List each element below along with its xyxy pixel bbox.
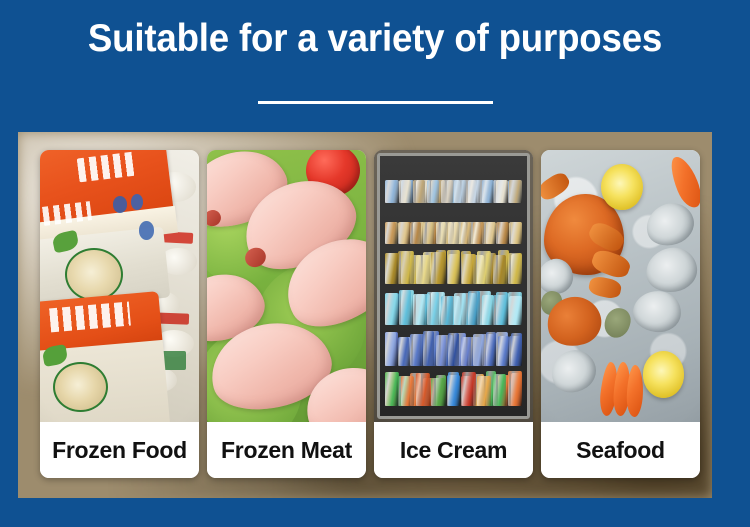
card-label-ice-cream: Ice Cream <box>374 422 533 478</box>
card-label-frozen-meat: Frozen Meat <box>207 422 366 478</box>
title-divider <box>258 101 493 104</box>
use-case-card-ice-cream[interactable]: Ice Cream <box>374 150 533 478</box>
lemon-wedge <box>601 164 642 210</box>
heading-block: Suitable for a variety of purposes <box>0 14 750 64</box>
card-label-text: Seafood <box>576 437 665 463</box>
card-photo-seafood <box>541 150 700 422</box>
card-label-text: Frozen Food <box>52 437 187 463</box>
card-photo-frozen-meat <box>207 150 366 422</box>
lemon-wedge <box>643 351 684 397</box>
card-label-text: Frozen Meat <box>221 437 352 463</box>
seafood-image <box>541 150 700 422</box>
package-dish-graphic <box>53 362 108 412</box>
use-case-card-frozen-food[interactable]: Frozen Food <box>40 150 199 478</box>
ice-cream-cooler-image <box>374 150 533 422</box>
package-dish-graphic <box>65 248 123 301</box>
frozen-food-image <box>40 150 199 422</box>
display-cooler-cabinet <box>377 153 530 420</box>
card-photo-frozen-food <box>40 150 199 422</box>
use-case-card-row: Frozen Food <box>40 150 700 478</box>
package-blue-seal <box>139 221 155 240</box>
promo-banner: Suitable for a variety of purposes <box>0 0 750 527</box>
feature-panel: Frozen Food <box>18 132 712 498</box>
card-photo-ice-cream <box>374 150 533 422</box>
use-case-card-seafood[interactable]: Seafood <box>541 150 700 478</box>
card-label-seafood: Seafood <box>541 422 700 478</box>
page-title: Suitable for a variety of purposes <box>23 14 728 64</box>
card-label-text: Ice Cream <box>400 437 507 463</box>
package-blue-seal <box>131 194 144 210</box>
use-case-card-frozen-meat[interactable]: Frozen Meat <box>207 150 366 478</box>
card-label-frozen-food: Frozen Food <box>40 422 199 478</box>
frozen-meat-image <box>207 150 366 422</box>
package-blue-seal <box>113 196 127 212</box>
